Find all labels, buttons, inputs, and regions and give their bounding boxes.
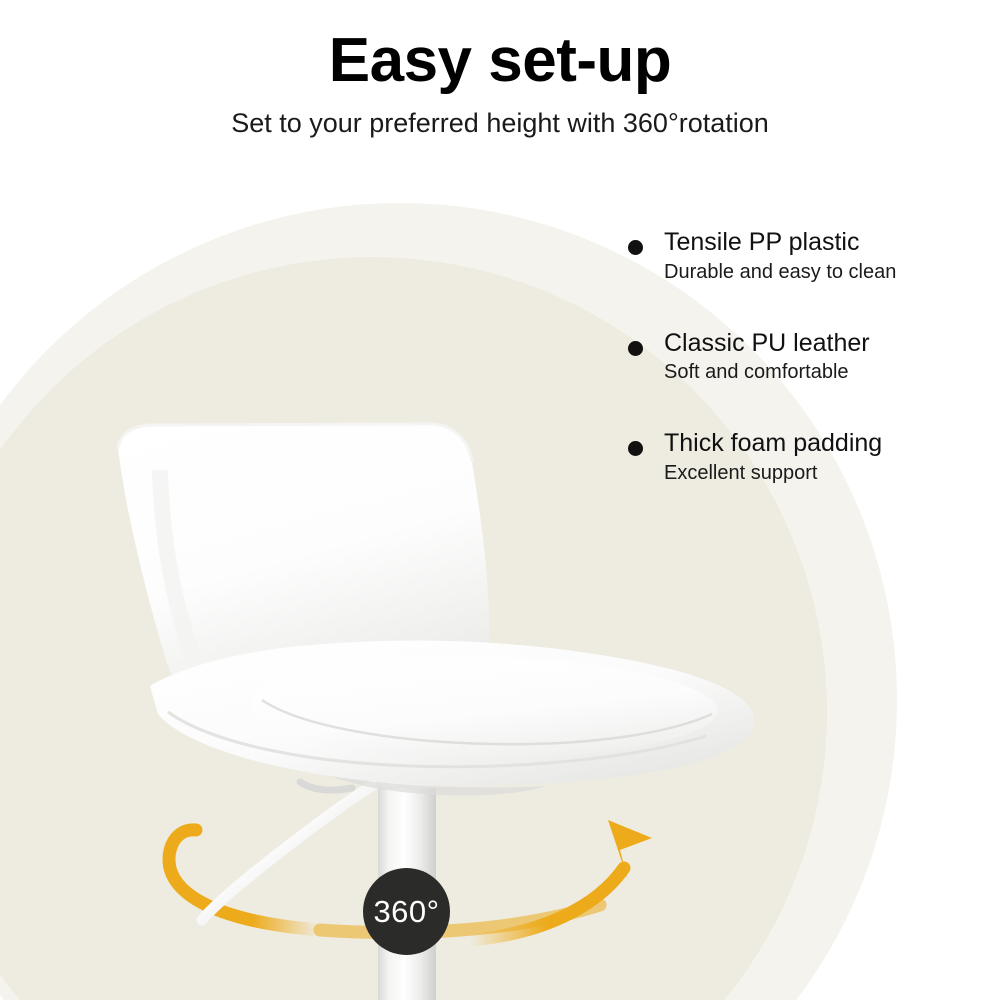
feature-item-tensile-pp-plastic: Tensile PP plastic Durable and easy to c…	[620, 228, 950, 284]
feature-list: Tensile PP plastic Durable and easy to c…	[620, 228, 950, 485]
bullet-dot-icon	[628, 240, 643, 255]
feature-item-classic-pu-leather: Classic PU leather Soft and comfortable	[620, 329, 950, 385]
feature-subtitle: Durable and easy to clean	[664, 260, 950, 284]
feature-item-thick-foam-padding: Thick foam padding Excellent support	[620, 429, 950, 485]
header-block: Easy set-up Set to your preferred height…	[0, 28, 1000, 139]
product-feature-graphic: Easy set-up Set to your preferred height…	[0, 0, 1000, 1000]
bullet-dot-icon	[628, 341, 643, 356]
feature-title: Thick foam padding	[664, 429, 950, 459]
page-title: Easy set-up	[0, 28, 1000, 93]
bullet-dot-icon	[628, 441, 643, 456]
feature-subtitle: Excellent support	[664, 461, 950, 485]
feature-subtitle: Soft and comfortable	[664, 360, 950, 384]
rotation-badge-icon: 360°	[363, 868, 450, 955]
page-subtitle: Set to your preferred height with 360°ro…	[0, 107, 1000, 139]
feature-title: Classic PU leather	[664, 329, 950, 359]
rotation-badge-label: 360°	[373, 896, 439, 927]
feature-title: Tensile PP plastic	[664, 228, 950, 258]
bar-stool-chair-illustration	[0, 0, 1000, 1000]
